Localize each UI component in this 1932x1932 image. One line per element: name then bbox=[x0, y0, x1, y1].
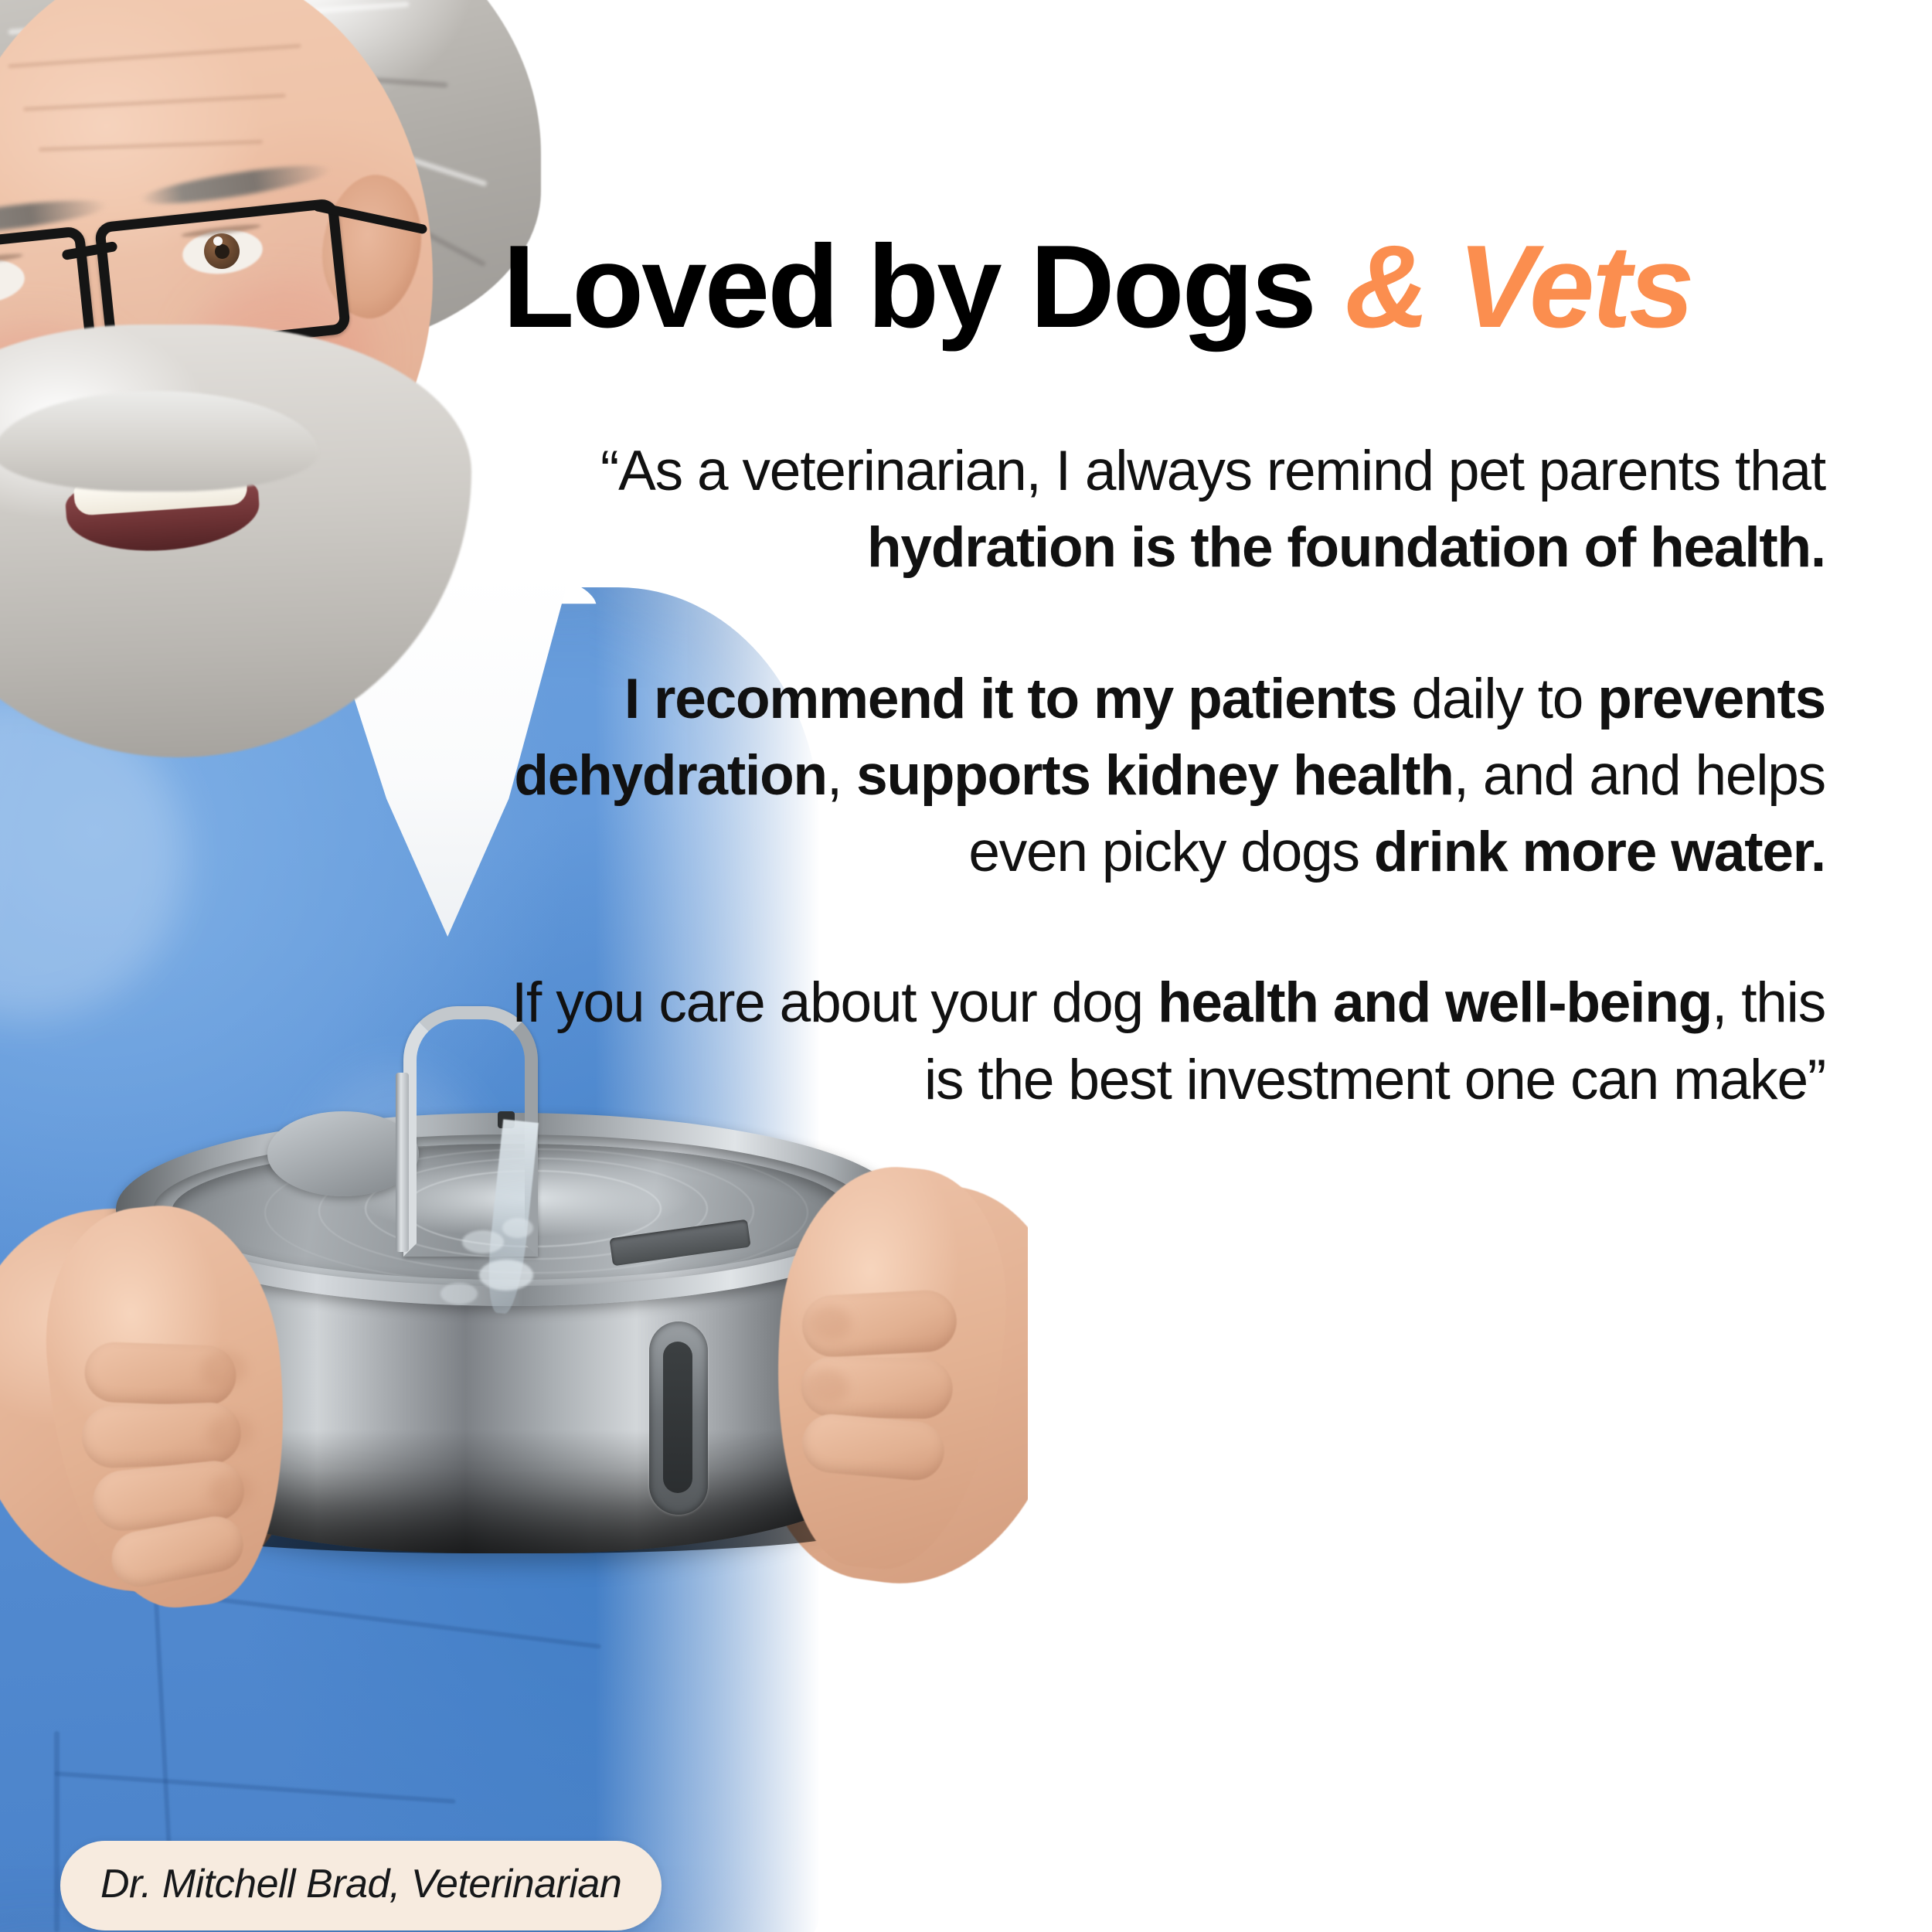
water-level-window bbox=[649, 1321, 708, 1515]
testimonial-paragraph-3: If you care about your dog health and we… bbox=[464, 964, 1825, 1118]
p2-regular-2: , bbox=[827, 744, 856, 807]
headline-primary: Loved by Dogs bbox=[502, 221, 1345, 352]
p2-bold-1: I recommend it to my patients bbox=[624, 668, 1397, 730]
headline-accent: & Vets bbox=[1345, 221, 1692, 352]
testimonial-body: “As a veterinarian, I always remind pet … bbox=[464, 433, 1825, 1118]
p2-bold-3: supports kidney health bbox=[856, 744, 1454, 807]
page-title: Loved by Dogs & Vets bbox=[479, 226, 1716, 349]
p2-bold-4: drink more water. bbox=[1374, 821, 1825, 883]
advertisement-canvas: Science bbox=[0, 0, 1932, 1932]
open-quote: “ bbox=[600, 440, 618, 502]
p3-regular-1: If you care about your dog bbox=[512, 971, 1158, 1034]
p2-regular-1: daily to bbox=[1396, 668, 1597, 730]
p1-bold-1: hydration is the foundation of health. bbox=[867, 516, 1825, 579]
p1-regular-1: As a veterinarian, I always remind pet p… bbox=[618, 440, 1825, 502]
testimonial-paragraph-1: “As a veterinarian, I always remind pet … bbox=[464, 433, 1825, 587]
p3-bold-1: health and well-being bbox=[1158, 971, 1712, 1034]
attribution-badge: Dr. Mitchell Brad, Veterinarian bbox=[60, 1841, 662, 1930]
head bbox=[0, 0, 541, 657]
testimonial-paragraph-2: I recommend it to my patients daily to p… bbox=[464, 661, 1825, 891]
